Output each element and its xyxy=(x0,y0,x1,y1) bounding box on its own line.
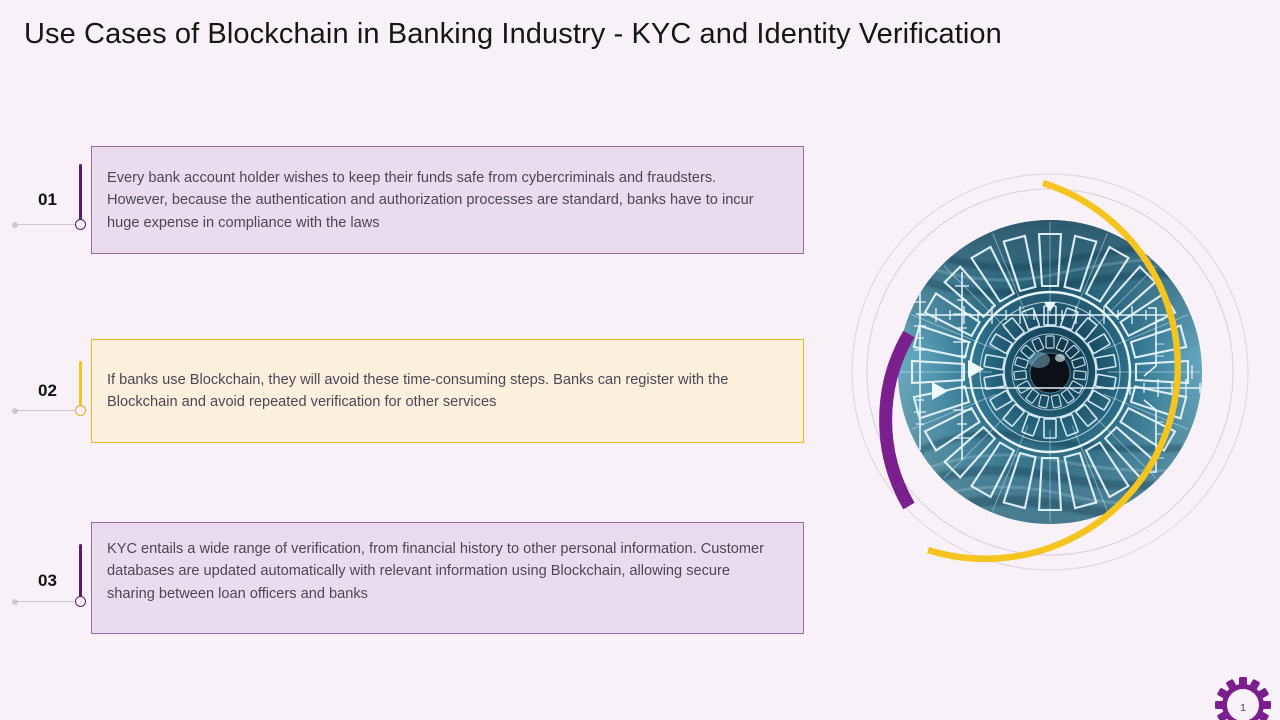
connector-line xyxy=(16,410,84,411)
slide-root: Use Cases of Blockchain in Banking Indus… xyxy=(0,0,1280,720)
page-number-label: 1 xyxy=(1214,676,1272,720)
content-list: 01 Every bank account holder wishes to k… xyxy=(0,0,830,720)
connector-line xyxy=(16,601,84,602)
connector-line xyxy=(16,224,84,225)
item-text-card: KYC entails a wide range of verification… xyxy=(91,522,804,634)
item-text-card: Every bank account holder wishes to keep… xyxy=(91,146,804,254)
accent-bar xyxy=(79,164,82,224)
item-number: 01 xyxy=(38,190,78,210)
accent-bar xyxy=(79,544,82,602)
page-number-badge: 1 xyxy=(1214,676,1272,720)
joint-dot-icon xyxy=(75,219,86,230)
joint-dot-icon xyxy=(75,405,86,416)
item-number: 02 xyxy=(38,381,78,401)
joint-dot-icon xyxy=(75,596,86,607)
eye-scan-svg xyxy=(840,160,1260,580)
biometric-eye-scan-graphic xyxy=(840,160,1260,580)
accent-bar xyxy=(79,361,82,411)
item-number: 03 xyxy=(38,571,78,591)
item-text-card: If banks use Blockchain, they will avoid… xyxy=(91,339,804,443)
